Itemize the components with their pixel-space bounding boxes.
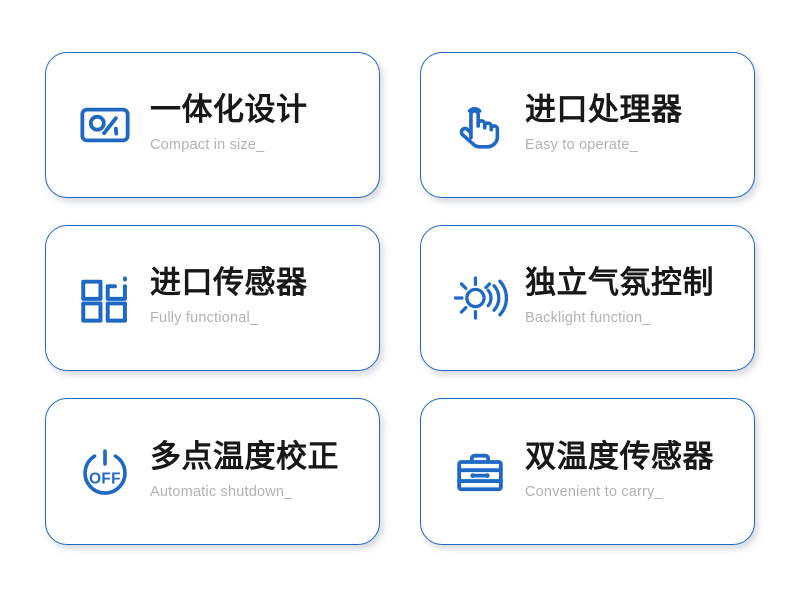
percent-display-icon	[75, 95, 135, 155]
feature-card-compact-size[interactable]: 一体化设计 Compact in size_	[45, 52, 380, 198]
card-text-block: 独立气氛控制 Backlight function_	[525, 266, 714, 329]
tap-hand-icon	[450, 95, 510, 155]
feature-card-backlight[interactable]: 独立气氛控制 Backlight function_	[420, 225, 755, 371]
card-title: 进口传感器	[150, 266, 308, 301]
card-subtitle: Convenient to carry_	[525, 484, 714, 501]
feature-card-convenient-carry[interactable]: 双温度传感器 Convenient to carry_	[420, 398, 755, 545]
card-subtitle: Easy to operate_	[525, 137, 683, 154]
card-text-block: 进口处理器 Easy to operate_	[525, 93, 683, 156]
card-text-block: 进口传感器 Fully functional_	[150, 266, 308, 329]
svg-text:OFF: OFF	[89, 470, 121, 487]
card-text-block: 一体化设计 Compact in size_	[150, 93, 308, 156]
card-subtitle: Fully functional_	[150, 310, 308, 327]
feature-card-auto-shutdown[interactable]: OFF 多点温度校正 Automatic shutdown_	[45, 398, 380, 545]
card-title: 进口处理器	[525, 93, 683, 128]
card-title: 双温度传感器	[525, 440, 714, 475]
card-title: 独立气氛控制	[525, 266, 714, 301]
grid-squares-icon	[75, 268, 135, 328]
card-text-block: 双温度传感器 Convenient to carry_	[525, 440, 714, 503]
toolbox-icon	[450, 442, 510, 502]
card-subtitle: Compact in size_	[150, 137, 308, 154]
card-text-block: 多点温度校正 Automatic shutdown_	[150, 440, 339, 503]
feature-card-easy-operate[interactable]: 进口处理器 Easy to operate_	[420, 52, 755, 198]
feature-card-fully-functional[interactable]: 进口传感器 Fully functional_	[45, 225, 380, 371]
power-off-icon: OFF	[75, 442, 135, 502]
feature-card-grid: 一体化设计 Compact in size_ 进口处理器 Easy to ope…	[0, 0, 800, 592]
card-title: 一体化设计	[150, 93, 308, 128]
card-subtitle: Automatic shutdown_	[150, 484, 339, 501]
card-title: 多点温度校正	[150, 440, 339, 475]
card-subtitle: Backlight function_	[525, 310, 714, 327]
sun-signal-icon	[450, 268, 510, 328]
